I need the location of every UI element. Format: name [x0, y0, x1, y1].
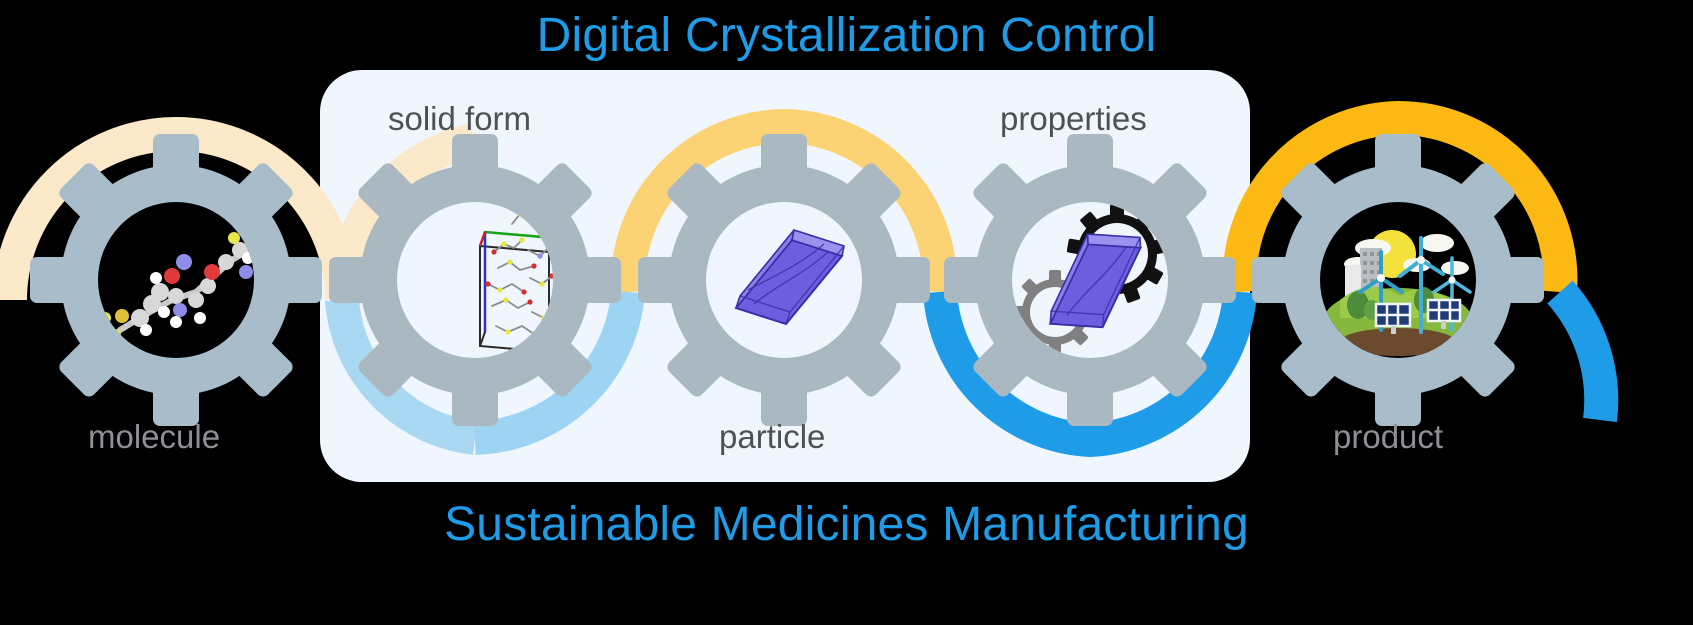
- ribbon-properties-to-product-bottom: [1560, 292, 1601, 420]
- sustainable-landscape-icon: [1324, 230, 1472, 356]
- stage-label-product: product: [1333, 418, 1443, 456]
- figure-canvas: Digital Crystallization Control Sustaina…: [0, 0, 1693, 625]
- stage-label-properties: properties: [1000, 100, 1147, 138]
- gear-product[interactable]: [1252, 134, 1544, 426]
- stage-label-particle: particle: [719, 418, 825, 456]
- molecule-icon: [99, 230, 262, 341]
- page-title-top: Digital Crystallization Control: [0, 8, 1693, 63]
- page-title-bottom: Sustainable Medicines Manufacturing: [0, 497, 1693, 552]
- stage-label-molecule: molecule: [88, 418, 220, 456]
- crystal-particle-icon: [736, 230, 844, 324]
- crystal-with-gears-icon: [1013, 204, 1167, 354]
- gear-solid-form[interactable]: [329, 134, 621, 426]
- stage-label-solid-form: solid form: [388, 100, 531, 138]
